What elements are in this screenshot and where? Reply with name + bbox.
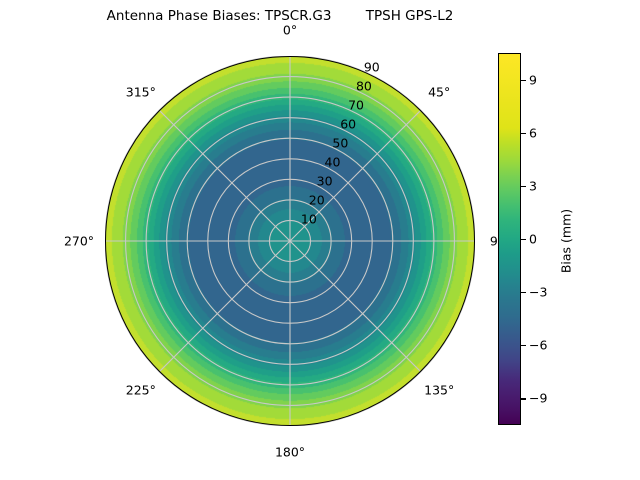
angular-tick-315: 315°: [126, 84, 156, 99]
radial-tick-90: 90: [364, 60, 380, 75]
colorbar-tickmark-3: [521, 186, 526, 187]
colorbar-ticklabel-0: 0: [529, 232, 537, 247]
colorbar-ticklabel-3: 3: [529, 178, 537, 193]
angular-tick-270: 270°: [64, 234, 94, 249]
angular-gridlines: [105, 56, 475, 426]
radial-tick-80: 80: [356, 79, 372, 94]
radial-tick-10: 10: [301, 212, 317, 227]
colorbar-axis-label: Bias (mm): [559, 209, 574, 273]
radial-tick-50: 50: [332, 136, 348, 151]
radial-tick-20: 20: [309, 193, 325, 208]
colorbar[interactable]: 9630−3−6−9: [498, 53, 521, 425]
radial-tick-60: 60: [340, 117, 356, 132]
colorbar-gradient: [498, 53, 521, 425]
colorbar-ticklabel-9: 9: [529, 72, 537, 87]
colorbar-ticklabel--6: −6: [529, 338, 547, 353]
polar-axes[interactable]: [105, 56, 475, 426]
colorbar-tickmark--9: [521, 398, 526, 399]
radial-tick-40: 40: [325, 155, 341, 170]
polar-gridlines: [105, 56, 475, 426]
colorbar-tickmark--6: [521, 345, 526, 346]
figure-canvas: Antenna Phase Biases: TPSCR.G3 TPSH GPS-…: [0, 0, 640, 480]
colorbar-ticklabel-6: 6: [529, 125, 537, 140]
radial-tick-30: 30: [317, 174, 333, 189]
chart-title: Antenna Phase Biases: TPSCR.G3 TPSH GPS-…: [0, 8, 560, 24]
colorbar-tickmark-9: [521, 80, 526, 81]
angular-tick-135: 135°: [424, 383, 454, 398]
colorbar-ticklabel--9: −9: [529, 391, 547, 406]
angular-tick-180: 180°: [275, 445, 305, 460]
angular-tick-225: 225°: [126, 383, 156, 398]
colorbar-tickmark--3: [521, 292, 526, 293]
angular-tick-45: 45°: [428, 84, 450, 99]
colorbar-tickmark-6: [521, 133, 526, 134]
colorbar-ticklabel--3: −3: [529, 285, 547, 300]
radial-tick-70: 70: [348, 98, 364, 113]
colorbar-tickmark-0: [521, 239, 526, 240]
angular-tick-0: 0°: [283, 23, 297, 38]
